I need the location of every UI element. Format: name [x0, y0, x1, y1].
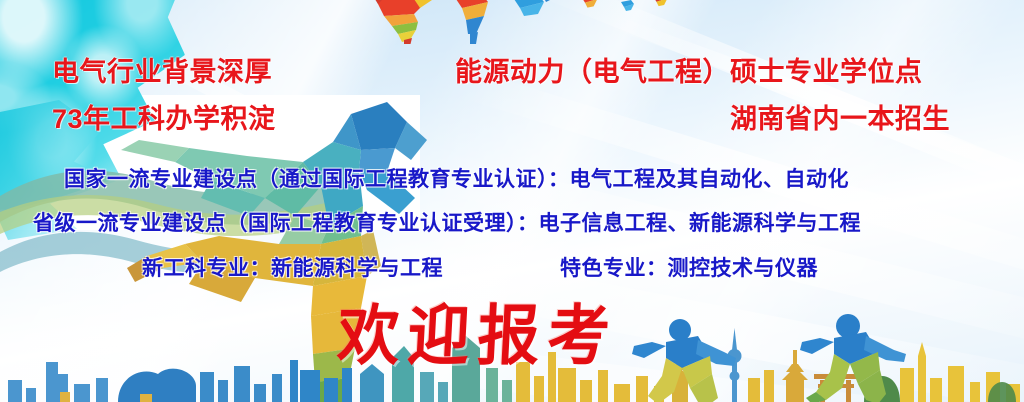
program-line-provincial: 省级一流专业建设点（国际工程教育专业认证受理）：电子信息工程、新能源科学与工程: [33, 207, 861, 237]
program-line-featured: 特色专业：测控技术与仪器: [560, 252, 818, 282]
recruitment-banner: 电气行业背景深厚 73年工科办学积淀 能源动力（电气工程）硕士专业学位点 湖南省…: [0, 0, 1024, 402]
program-line-national: 国家一流专业建设点（通过国际工程教育专业认证）：电气工程及其自动化、自动化: [64, 163, 849, 193]
runner-secondary-icon: [618, 318, 748, 402]
program-line-new-engineering: 新工科专业：新能源科学与工程: [142, 252, 443, 282]
headline-left-line-1: 电气行业背景深厚: [52, 50, 272, 89]
headline-left-line-2: 73年工科办学积淀: [52, 97, 276, 136]
headline-right-line-2: 湖南省内一本招生: [730, 97, 950, 136]
runner-icon: [790, 312, 920, 402]
call-to-action-text: 欢迎报考: [336, 282, 621, 377]
headline-right-line-1: 能源动力（电气工程）硕士专业学位点: [455, 50, 923, 89]
